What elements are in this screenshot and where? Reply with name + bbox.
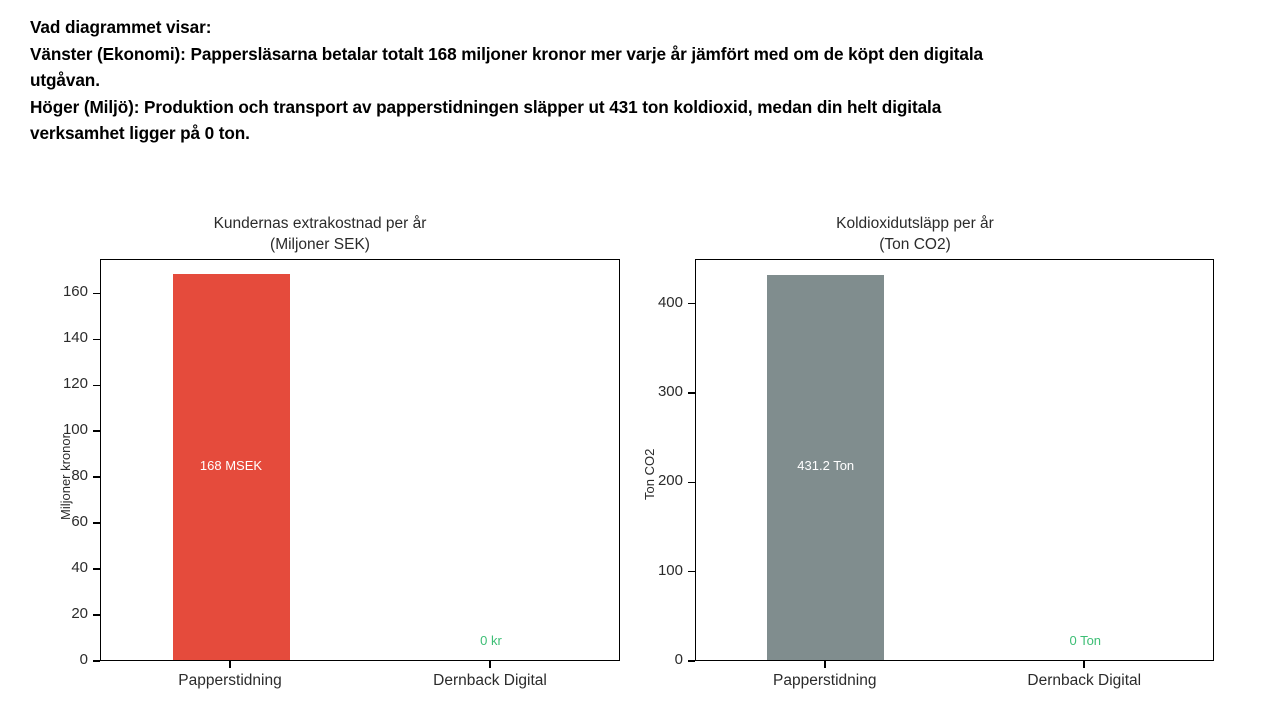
chart-title-main: Kundernas extrakostnad per år bbox=[214, 215, 427, 232]
y-tick-label: 20 bbox=[71, 605, 88, 622]
y-tick-mark bbox=[688, 571, 695, 573]
y-axis-ticks-emissions: 0100200300400 bbox=[595, 259, 695, 661]
y-tick-mark bbox=[93, 385, 100, 387]
y-tick-label: 120 bbox=[63, 375, 88, 392]
bar-economy-0[interactable]: 168 MSEK bbox=[173, 274, 290, 660]
y-tick-label: 100 bbox=[658, 562, 683, 579]
y-tick-label: 0 bbox=[675, 651, 683, 668]
y-tick-mark bbox=[93, 660, 100, 662]
x-tick-mark-emissions-0 bbox=[824, 661, 826, 668]
y-tick-label: 300 bbox=[658, 383, 683, 400]
y-tick-mark bbox=[688, 303, 695, 305]
x-category-label-emissions-1: Dernback Digital bbox=[1027, 672, 1141, 690]
summary-text-block: Vad diagrammet visar: Vänster (Ekonomi):… bbox=[30, 14, 1250, 147]
y-tick-label: 160 bbox=[63, 283, 88, 300]
bar-value-label: 431.2 Ton bbox=[797, 458, 854, 473]
y-tick-label: 0 bbox=[80, 651, 88, 668]
y-tick-label: 100 bbox=[63, 421, 88, 438]
y-tick-mark bbox=[93, 430, 100, 432]
y-tick-mark bbox=[688, 660, 695, 662]
chart-panel-economy: Kundernas extrakostnad per år (Miljoner … bbox=[0, 200, 640, 720]
summary-line-2: Vänster (Ekonomi): Pappersläsarna betala… bbox=[30, 41, 1250, 68]
bar-emissions-0[interactable]: 431.2 Ton bbox=[767, 275, 884, 660]
y-tick-mark bbox=[93, 339, 100, 341]
plot-area-economy: 168 MSEK0 kr bbox=[100, 259, 620, 661]
bar-value-label-zero-economy: 0 kr bbox=[480, 633, 502, 648]
y-tick-label: 80 bbox=[71, 467, 88, 484]
y-tick-label: 40 bbox=[71, 559, 88, 576]
chart-title-economy: Kundernas extrakostnad per år (Miljoner … bbox=[0, 213, 640, 255]
y-tick-label: 60 bbox=[71, 513, 88, 530]
chart-title-sub: (Miljoner SEK) bbox=[0, 234, 640, 255]
bar-value-label-zero-emissions: 0 Ton bbox=[1069, 633, 1101, 648]
y-tick-mark bbox=[688, 482, 695, 484]
y-tick-label: 400 bbox=[658, 294, 683, 311]
bar-value-label: 168 MSEK bbox=[200, 458, 262, 473]
chart-title-sub: (Ton CO2) bbox=[595, 234, 1235, 255]
y-tick-mark bbox=[93, 614, 100, 616]
charts-region: Kundernas extrakostnad per år (Miljoner … bbox=[0, 200, 1280, 720]
x-tick-mark-economy-1 bbox=[489, 661, 491, 668]
x-category-label-emissions-0: Papperstidning bbox=[773, 672, 876, 690]
x-tick-mark-economy-0 bbox=[229, 661, 231, 668]
y-axis-ticks-economy: 020406080100120140160 bbox=[0, 259, 100, 661]
y-tick-mark bbox=[93, 293, 100, 295]
summary-line-4: Höger (Miljö): Produktion och transport … bbox=[30, 94, 1250, 121]
y-tick-mark bbox=[93, 522, 100, 524]
chart-title-emissions: Koldioxidutsläpp per år (Ton CO2) bbox=[595, 213, 1235, 255]
plot-area-emissions: 431.2 Ton0 Ton bbox=[695, 259, 1214, 661]
y-tick-label: 200 bbox=[658, 472, 683, 489]
x-tick-mark-emissions-1 bbox=[1083, 661, 1085, 668]
summary-line-3: utgåvan. bbox=[30, 67, 1250, 94]
x-category-label-economy-0: Papperstidning bbox=[178, 672, 281, 690]
summary-line-1: Vad diagrammet visar: bbox=[30, 14, 1250, 41]
x-category-label-economy-1: Dernback Digital bbox=[433, 672, 547, 690]
y-tick-mark bbox=[93, 568, 100, 570]
summary-line-5: verksamhet ligger på 0 ton. bbox=[30, 120, 1250, 147]
y-tick-label: 140 bbox=[63, 329, 88, 346]
chart-panel-emissions: Koldioxidutsläpp per år (Ton CO2) Ton CO… bbox=[595, 200, 1235, 720]
chart-title-main: Koldioxidutsläpp per år bbox=[836, 215, 994, 232]
y-tick-mark bbox=[93, 476, 100, 478]
y-tick-mark bbox=[688, 392, 695, 394]
